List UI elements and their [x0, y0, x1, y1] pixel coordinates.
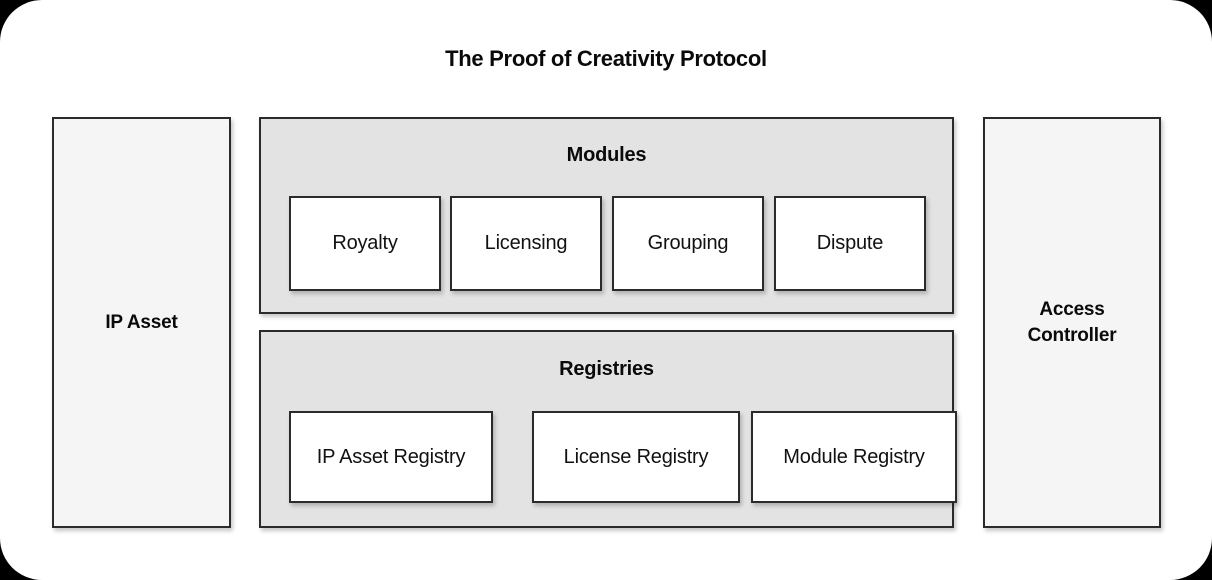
registry-card-license-registry[interactable]: License Registry	[532, 411, 740, 503]
registries-group-title: Registries	[261, 358, 952, 381]
access-controller-label-line1: Access	[1039, 299, 1104, 320]
modules-group-panel: Modules Royalty Licensing Grouping Dispu…	[259, 117, 954, 314]
module-card-royalty[interactable]: Royalty	[289, 196, 441, 291]
ip-asset-panel[interactable]: IP Asset	[52, 117, 231, 528]
ip-asset-label: IP Asset	[105, 310, 177, 335]
access-controller-panel[interactable]: Access Controller	[983, 117, 1161, 528]
diagram-canvas: The Proof of Creativity Protocol IP Asse…	[0, 0, 1212, 580]
registry-card-module-registry[interactable]: Module Registry	[751, 411, 957, 503]
module-card-grouping[interactable]: Grouping	[612, 196, 764, 291]
access-controller-label-line2: Controller	[1028, 325, 1117, 346]
access-controller-label: Access Controller	[1028, 297, 1117, 347]
registry-card-ip-asset-registry[interactable]: IP Asset Registry	[289, 411, 493, 503]
module-card-licensing[interactable]: Licensing	[450, 196, 602, 291]
modules-card-row: Royalty Licensing Grouping Dispute	[289, 196, 928, 291]
registries-group-panel: Registries IP Asset Registry License Reg…	[259, 330, 954, 528]
modules-group-title: Modules	[261, 144, 952, 167]
module-card-dispute[interactable]: Dispute	[774, 196, 926, 291]
page-title: The Proof of Creativity Protocol	[0, 46, 1212, 72]
registries-card-row: IP Asset Registry License Registry Modul…	[289, 411, 928, 503]
